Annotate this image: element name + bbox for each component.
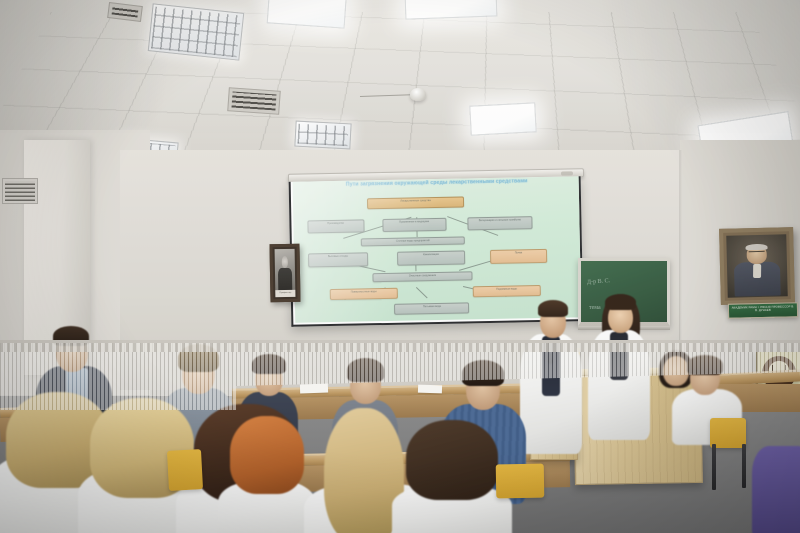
memorial-plaque: АКАДЕМИК РАМН І. РЯСНЯ ПРОФЕССОР В. В. Д… <box>728 302 798 318</box>
hair-brunette <box>406 420 498 500</box>
portrait-right-hair <box>745 243 768 250</box>
chair-leg <box>742 444 746 488</box>
chalk-mark: Д-р В. С. <box>587 278 610 286</box>
audience-member-dark-front <box>392 420 512 533</box>
ceiling-light-panel <box>294 121 351 150</box>
flowchart-node-n2: Производство <box>307 220 364 234</box>
portrait-right-image <box>726 234 787 297</box>
portrait-left-caption: Профессор <box>275 290 295 297</box>
chair-leg <box>712 444 716 490</box>
presenter-female-fringe <box>605 294 636 310</box>
paper-sheet <box>300 384 328 394</box>
screen-roller-knob[interactable] <box>561 171 573 175</box>
flowchart-node-n3: Применение в медицине <box>382 218 447 232</box>
flowchart-node-n11: Подземные воды <box>473 285 541 297</box>
ceiling-light-panel <box>469 102 536 135</box>
flowchart-node-n6: Бытовые отходы <box>308 252 369 267</box>
lecture-hall-photo: Пути загрязнения окружающей среды лекарс… <box>0 0 800 533</box>
chair[interactable] <box>167 449 203 491</box>
hair-red <box>230 416 304 494</box>
dome-sensor-icon <box>410 88 426 101</box>
flowchart-node-n10: Поверхностные воды <box>330 288 398 300</box>
audience-member-purple-front <box>752 446 800 533</box>
portrait-left-body <box>278 268 292 291</box>
flowchart-node-n12: Питьевая вода <box>394 303 469 315</box>
ceiling-air-vent <box>227 87 281 115</box>
plaque-text: АКАДЕМИК РАМН І. РЯСНЯ ПРОФЕССОР В. В. Д… <box>731 305 795 315</box>
purple-garment <box>752 446 800 533</box>
ceiling-light-panel <box>405 0 498 20</box>
flowchart-node-n8: Почва <box>490 249 547 264</box>
portrait-scientist-bw: Профессор <box>269 244 300 303</box>
wall-air-vent <box>2 178 38 204</box>
presenter-male-hair <box>538 300 568 317</box>
portrait-right-glasses-icon <box>748 251 765 255</box>
flowchart-node-n4: Ветеринария и сельское хозяйство <box>468 216 533 230</box>
chair[interactable] <box>496 464 545 499</box>
paper-sheet <box>418 385 442 394</box>
portrait-right-shirt <box>753 263 762 277</box>
flowchart-node-n1: Лекарственные средства <box>367 196 464 208</box>
portrait-left-head <box>281 256 288 269</box>
portrait-professor-color <box>719 227 795 305</box>
presenter-male <box>520 300 582 470</box>
ceiling-light-panel <box>148 3 245 60</box>
flowchart-node-n7: Канализация <box>397 251 465 266</box>
